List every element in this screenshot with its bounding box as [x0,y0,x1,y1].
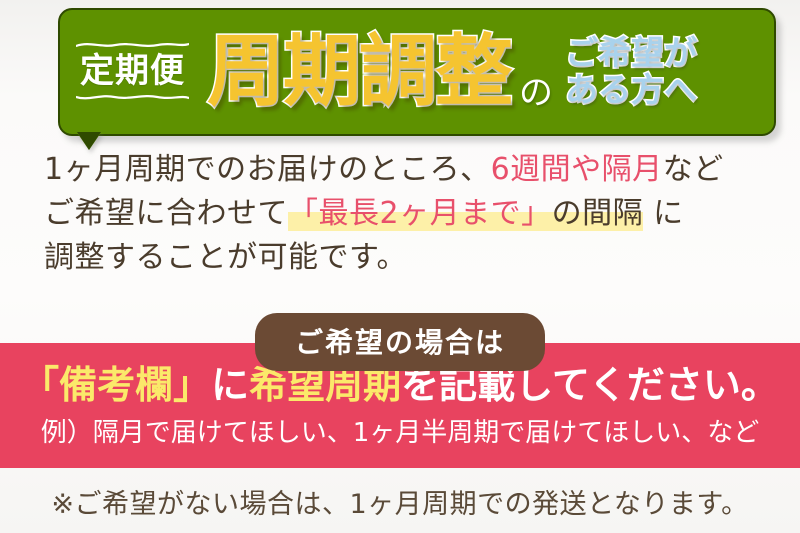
body-line-3: 調整することが可能です。 [44,236,800,280]
body-line-2-e: に [643,196,684,231]
header-ribbon: 定期便 周期調整 の ご希望が ある方へ [58,8,776,136]
condition-badge: ご希望の場合は [255,313,545,371]
body-line-2: ご希望に合わせて「最長2ヶ月まで」の間隔 に [44,192,800,236]
instruction-field-name: 「備考欄」 [21,363,211,407]
footnote-text: ※ご希望がない場合は、1ヶ月周期での発送となります。 [0,482,800,521]
body-line-1-c: など [663,152,724,187]
body-line-2-d: 間隔 [582,196,643,231]
wave-line-top-icon [76,40,189,49]
audience-line-1: ご希望が [565,36,697,71]
body-line-2-c: の [552,196,583,231]
headline-text: 周期調整 [207,33,511,111]
wave-line-bottom-icon [76,93,189,102]
body-line-2-a: ご希望に合わせて [44,196,288,231]
subscription-badge-label: 定期便 [80,51,185,91]
body-line-2-accent: 「最長2ヶ月まで」 [288,196,552,231]
body-paragraph: 1ヶ月周期でのお届けのところ、6週間や隔月など ご希望に合わせて「最長2ヶ月まで… [0,148,800,280]
instruction-example: 例）隔月で届けてほしい、1ヶ月半周期で届けてほしい、など [0,419,800,448]
audience-callout: ご希望が ある方へ [565,36,697,107]
body-line-1: 1ヶ月周期でのお届けのところ、6週間や隔月など [44,148,800,192]
audience-line-2: ある方へ [565,73,697,108]
subscription-badge: 定期便 [76,40,189,104]
instruction-headline: 「備考欄」に希望周期を記載してください。 [0,365,800,407]
headline-particle: の [519,76,553,136]
speech-bubble-tail-icon [78,134,100,150]
instruction-part-b: に [211,363,249,407]
body-line-1-accent: 6週間や隔月 [491,152,663,187]
header-content: 定期便 周期調整 の ご希望が ある方へ [58,8,776,136]
body-line-1-a: 1ヶ月周期でのお届けのところ、 [44,152,491,187]
